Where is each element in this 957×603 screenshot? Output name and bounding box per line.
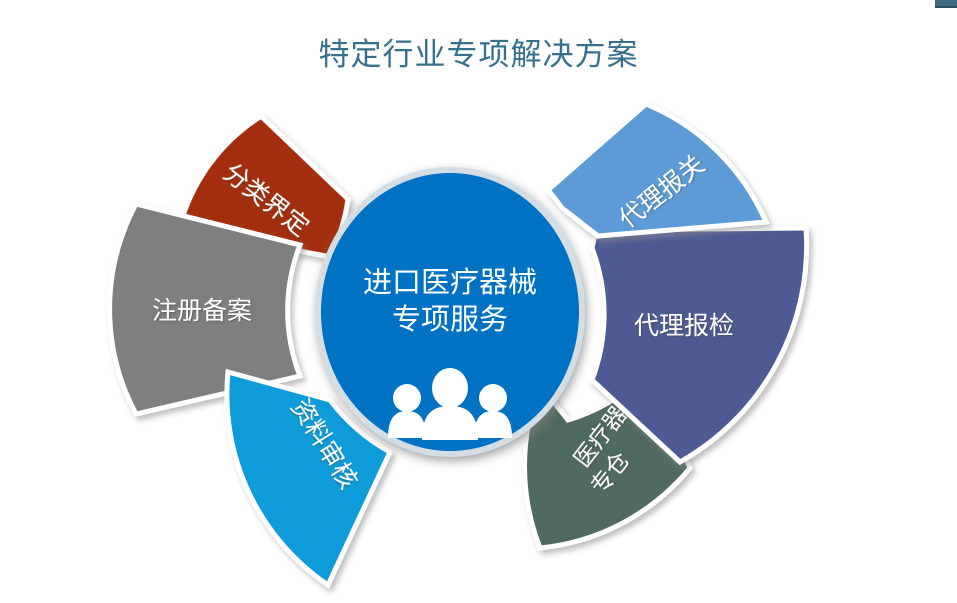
corner-marker xyxy=(935,0,957,8)
petal-label-inspection-agency: 代理报检 xyxy=(634,312,734,340)
hub-label-line2: 专项服务 xyxy=(392,303,508,336)
slide-canvas: 特定行业专项解决方案 分类界定 注册备案 资料审核 xyxy=(0,0,957,603)
petal-customs-agency[interactable]: 代理报关 xyxy=(548,104,766,236)
hub-label-line1: 进口医疗器械 xyxy=(363,266,537,299)
petal-shape-customs-agency[interactable] xyxy=(548,104,766,236)
center-hub[interactable]: 进口医疗器械 专项服务 xyxy=(318,170,582,454)
radial-petal-diagram: 分类界定 注册备案 资料审核 医疗器械 专仓 代理报检 代理报 xyxy=(0,0,957,603)
petal-label-registration: 注册备案 xyxy=(152,297,252,325)
